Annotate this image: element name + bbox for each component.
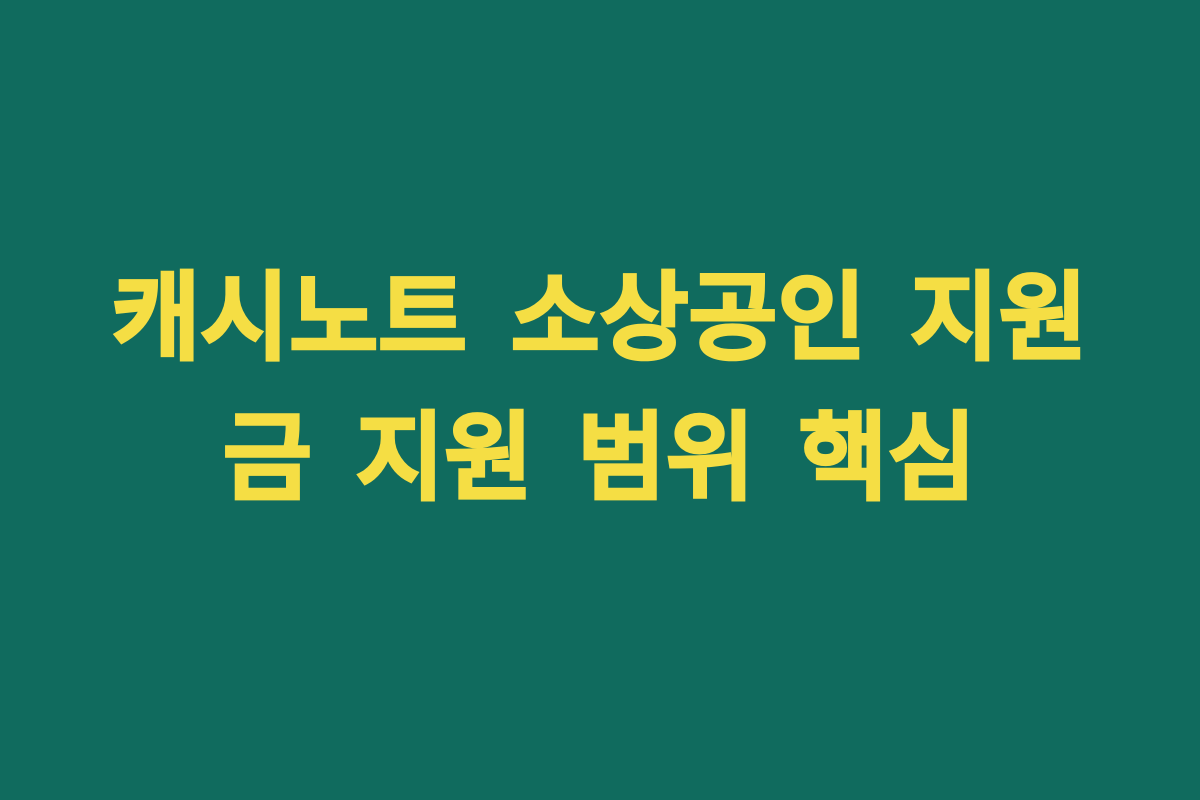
page-title: 캐시노트 소상공인 지원 금 지원 범위 핵심 bbox=[70, 248, 1130, 528]
headline-line-1: 캐시노트 소상공인 지원 bbox=[70, 248, 1130, 388]
headline-line-2: 금 지원 범위 핵심 bbox=[70, 388, 1130, 528]
thumbnail-canvas: 캐시노트 소상공인 지원 금 지원 범위 핵심 bbox=[0, 0, 1200, 800]
